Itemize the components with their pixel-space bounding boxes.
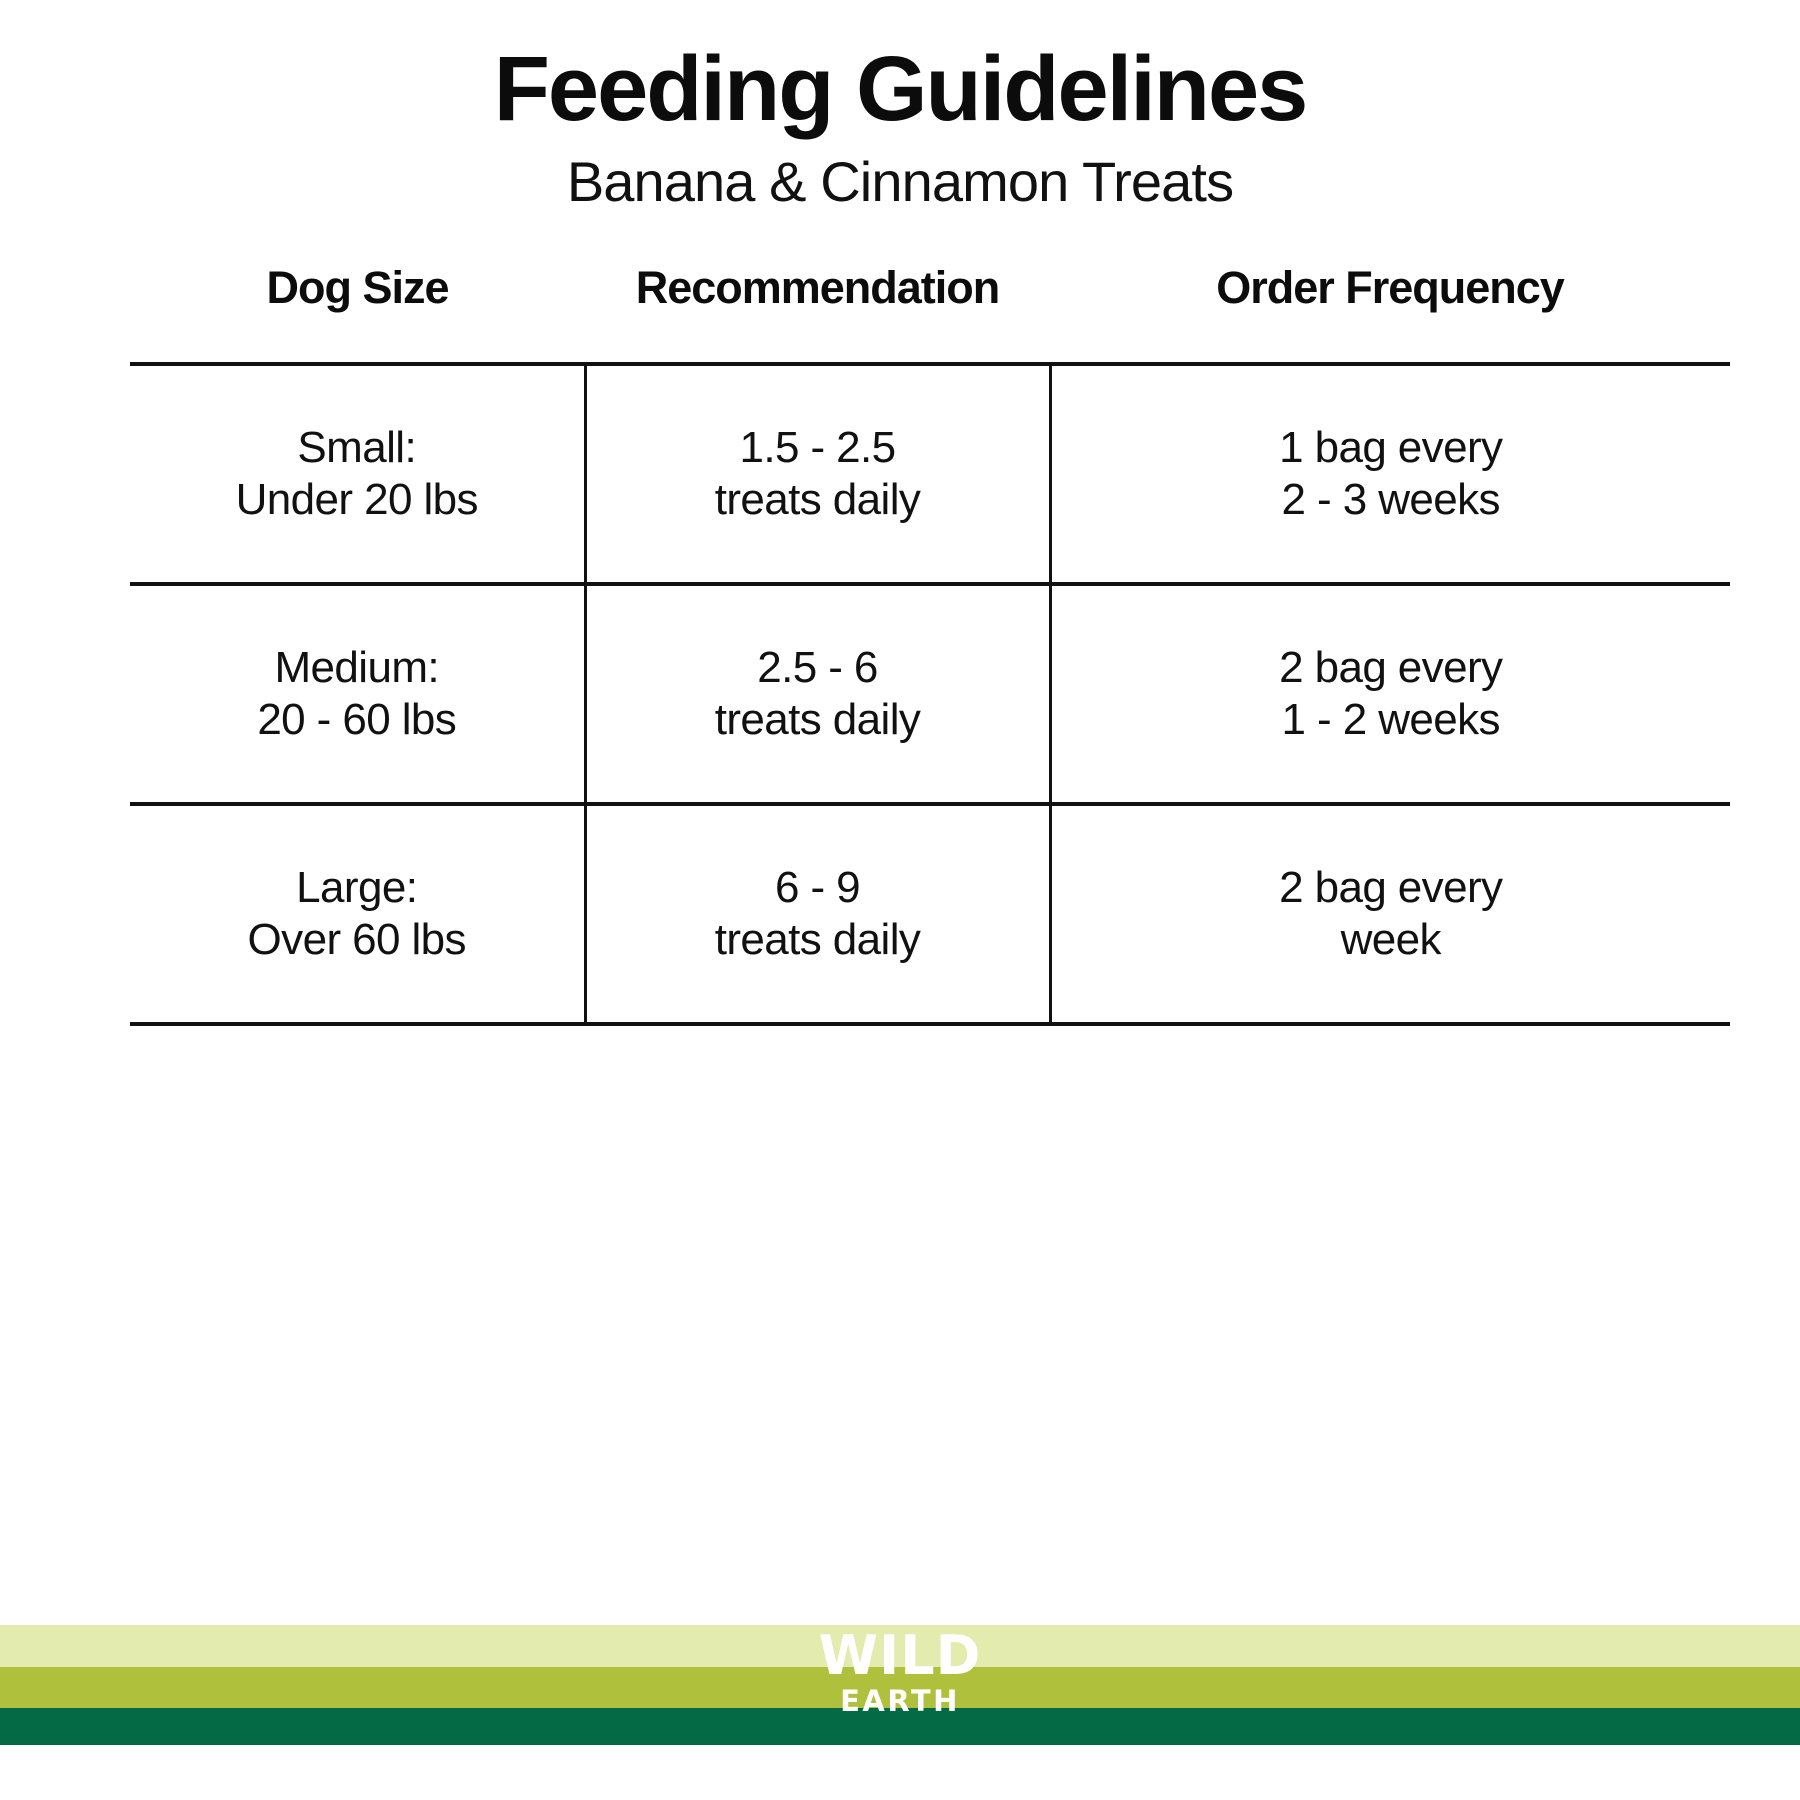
cell-line-primary: 1 bag every	[1066, 422, 1717, 474]
cell-line-primary: 1.5 - 2.5	[601, 422, 1035, 474]
cell-order-frequency: 2 bag every week	[1050, 804, 1730, 1024]
cell-line-secondary: 20 - 60 lbs	[144, 694, 570, 746]
page-subtitle: Banana & Cinnamon Treats	[0, 152, 1800, 211]
cell-order-frequency: 1 bag every 2 - 3 weeks	[1050, 364, 1730, 584]
page-title: Feeding Guidelines	[0, 42, 1800, 138]
cell-line-secondary: treats daily	[601, 474, 1035, 526]
feeding-table-container: Dog Size Recommendation Order Frequency …	[130, 262, 1730, 1026]
footer-band-dark	[0, 1708, 1800, 1745]
cell-line-primary: 6 - 9	[601, 862, 1035, 914]
cell-line-primary: Small:	[144, 422, 570, 474]
cell-dog-size: Small: Under 20 lbs	[130, 364, 585, 584]
cell-line-secondary: treats daily	[601, 914, 1035, 966]
feeding-guidelines-page: Feeding Guidelines Banana & Cinnamon Tre…	[0, 0, 1800, 1800]
table-row: Large: Over 60 lbs 6 - 9 treats daily 2 …	[130, 804, 1730, 1024]
cell-line-secondary: treats daily	[601, 694, 1035, 746]
column-header-order-frequency: Order Frequency	[1050, 262, 1730, 364]
cell-recommendation: 6 - 9 treats daily	[585, 804, 1050, 1024]
brand-footer: WILD EARTH	[0, 1625, 1800, 1800]
cell-line-primary: 2 bag every	[1066, 642, 1717, 694]
table-row: Medium: 20 - 60 lbs 2.5 - 6 treats daily…	[130, 584, 1730, 804]
cell-line-primary: Medium:	[144, 642, 570, 694]
cell-recommendation: 2.5 - 6 treats daily	[585, 584, 1050, 804]
cell-line-secondary: 1 - 2 weeks	[1066, 694, 1717, 746]
cell-line-secondary: Under 20 lbs	[144, 474, 570, 526]
table-body: Small: Under 20 lbs 1.5 - 2.5 treats dai…	[130, 364, 1730, 1024]
cell-recommendation: 1.5 - 2.5 treats daily	[585, 364, 1050, 584]
cell-line-secondary: Over 60 lbs	[144, 914, 570, 966]
table-header-row: Dog Size Recommendation Order Frequency	[130, 262, 1730, 364]
footer-band-light	[0, 1625, 1800, 1667]
footer-band-white	[0, 1745, 1800, 1800]
column-header-recommendation: Recommendation	[585, 262, 1050, 364]
cell-line-primary: 2.5 - 6	[601, 642, 1035, 694]
cell-order-frequency: 2 bag every 1 - 2 weeks	[1050, 584, 1730, 804]
feeding-guidelines-table: Dog Size Recommendation Order Frequency …	[130, 262, 1730, 1026]
page-header: Feeding Guidelines Banana & Cinnamon Tre…	[0, 42, 1800, 211]
cell-line-primary: Large:	[144, 862, 570, 914]
cell-line-primary: 2 bag every	[1066, 862, 1717, 914]
cell-line-secondary: week	[1066, 914, 1717, 966]
table-header: Dog Size Recommendation Order Frequency	[130, 262, 1730, 364]
footer-band-olive	[0, 1667, 1800, 1708]
cell-dog-size: Large: Over 60 lbs	[130, 804, 585, 1024]
column-header-dog-size: Dog Size	[130, 262, 585, 364]
cell-line-secondary: 2 - 3 weeks	[1066, 474, 1717, 526]
table-row: Small: Under 20 lbs 1.5 - 2.5 treats dai…	[130, 364, 1730, 584]
cell-dog-size: Medium: 20 - 60 lbs	[130, 584, 585, 804]
